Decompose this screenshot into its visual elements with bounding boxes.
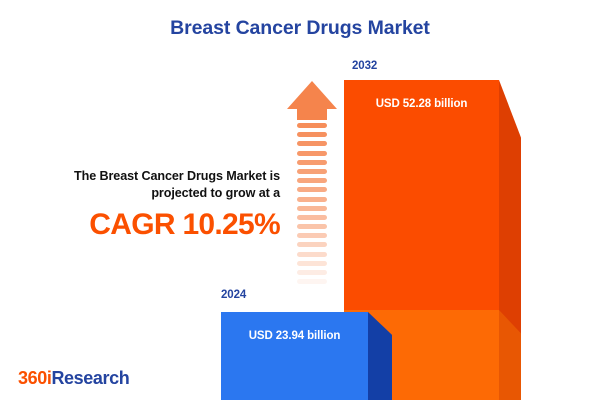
bar-2024-face (221, 312, 368, 400)
bar-2024[interactable]: USD 23.94 billion (221, 312, 368, 400)
arrow-stripe (297, 123, 327, 128)
arrow-stripe (297, 215, 327, 220)
arrow-stripe (297, 151, 327, 156)
page-title: Breast Cancer Drugs Market (0, 17, 600, 40)
arrow-stripe (297, 224, 327, 229)
arrow-head-icon (286, 80, 338, 110)
statement-block: The Breast Cancer Drugs Market is projec… (18, 168, 280, 242)
arrow-stripe (297, 160, 327, 165)
arrow-stripe (297, 132, 327, 137)
arrow-stripe (297, 261, 327, 266)
arrow-stripe (297, 141, 327, 146)
arrow-stripe (297, 270, 327, 275)
arrow-stripe (297, 288, 327, 293)
bar-2024-value-label: USD 23.94 billion (221, 330, 368, 342)
arrow-stripe (297, 169, 327, 174)
bar-2032-value-label: USD 52.28 billion (344, 98, 499, 110)
arrow-stripe (297, 178, 327, 183)
arrow-stripe (297, 187, 327, 192)
market-infographic: Breast Cancer Drugs Market The Breast Ca… (0, 0, 600, 400)
bar-year-2024: 2024 (221, 289, 246, 301)
statement-lead: The Breast Cancer Drugs Market is projec… (18, 168, 280, 202)
bar-year-2032: 2032 (352, 60, 377, 72)
arrow-stripe (297, 206, 327, 211)
statement-lead-line-2: projected to grow at a (151, 186, 280, 200)
arrow-stripe (297, 197, 327, 202)
arrow-stripes (297, 123, 327, 296)
cagr-value: CAGR 10.25% (18, 208, 280, 242)
arrow-neck (297, 108, 327, 120)
arrow-stripe (297, 252, 327, 257)
up-arrow-icon (286, 80, 338, 296)
statement-lead-line-1: The Breast Cancer Drugs Market is (74, 169, 280, 183)
arrow-stripe (297, 279, 327, 284)
logo-360i: 360i (18, 368, 51, 388)
logo-research: Research (51, 368, 129, 388)
brand-logo[interactable]: 360iResearch (18, 368, 129, 389)
arrow-stripe (297, 233, 327, 238)
arrow-stripe (297, 242, 327, 247)
